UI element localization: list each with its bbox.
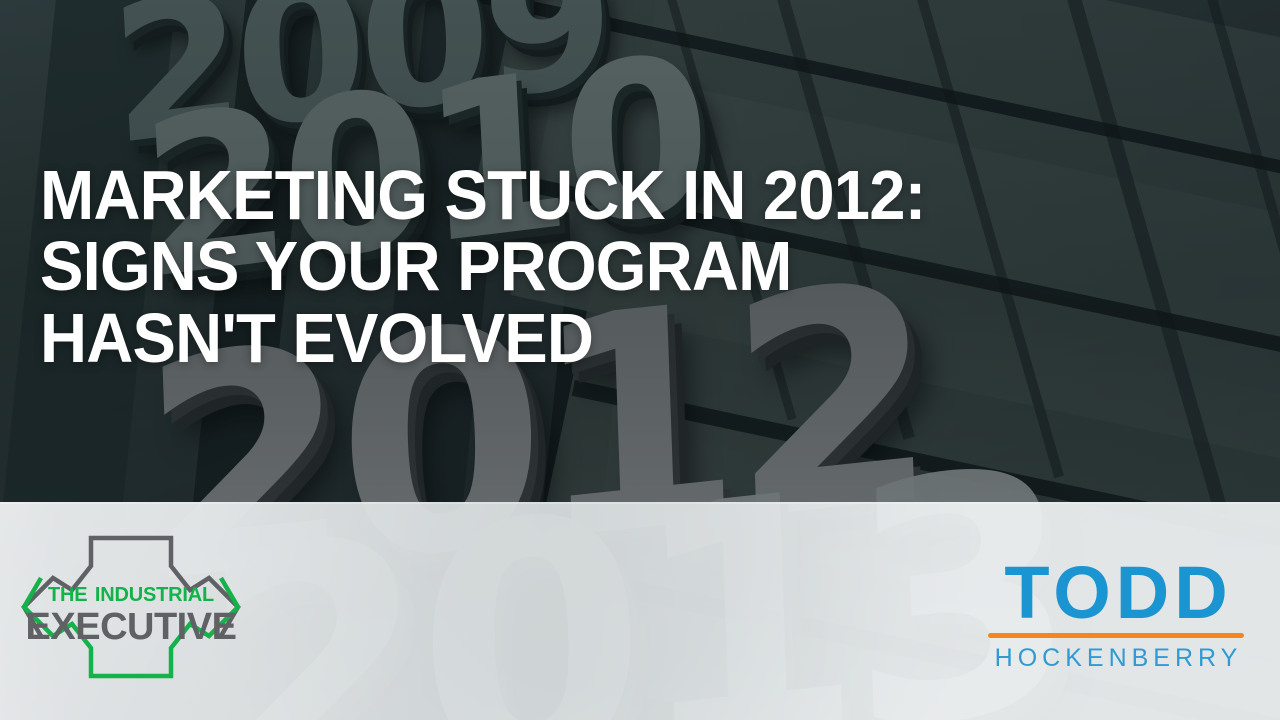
headline-line-1: MARKETING STUCK IN 2012: [40,160,1165,231]
todd-hockenberry-logo: TODD HOCKENBERRY [986,560,1246,673]
logo-text-todd: TODD [986,560,1246,625]
headline-line-3: HASN'T EVOLVED [40,303,1165,374]
logo-text-hockenberry: HOCKENBERRY [986,644,1246,673]
headline-line-2: SIGNS YOUR PROGRAM [40,231,1165,302]
slide-footer-bar: The Industrial EXECUTIVE TODD HOCKENBERR… [0,502,1280,720]
presentation-slide: 2009 2010 2012 2013 MARKETING STUCK IN 2… [0,0,1280,720]
industrial-executive-wordmark: The Industrial EXECUTIVE [6,578,256,646]
logo-text-executive: EXECUTIVE [6,608,256,646]
footer-divider [0,502,1280,504]
industrial-executive-logo: The Industrial EXECUTIVE [6,516,256,698]
logo-text-the-industrial: The Industrial [6,578,256,606]
slide-headline: MARKETING STUCK IN 2012: SIGNS YOUR PROG… [40,160,1165,374]
